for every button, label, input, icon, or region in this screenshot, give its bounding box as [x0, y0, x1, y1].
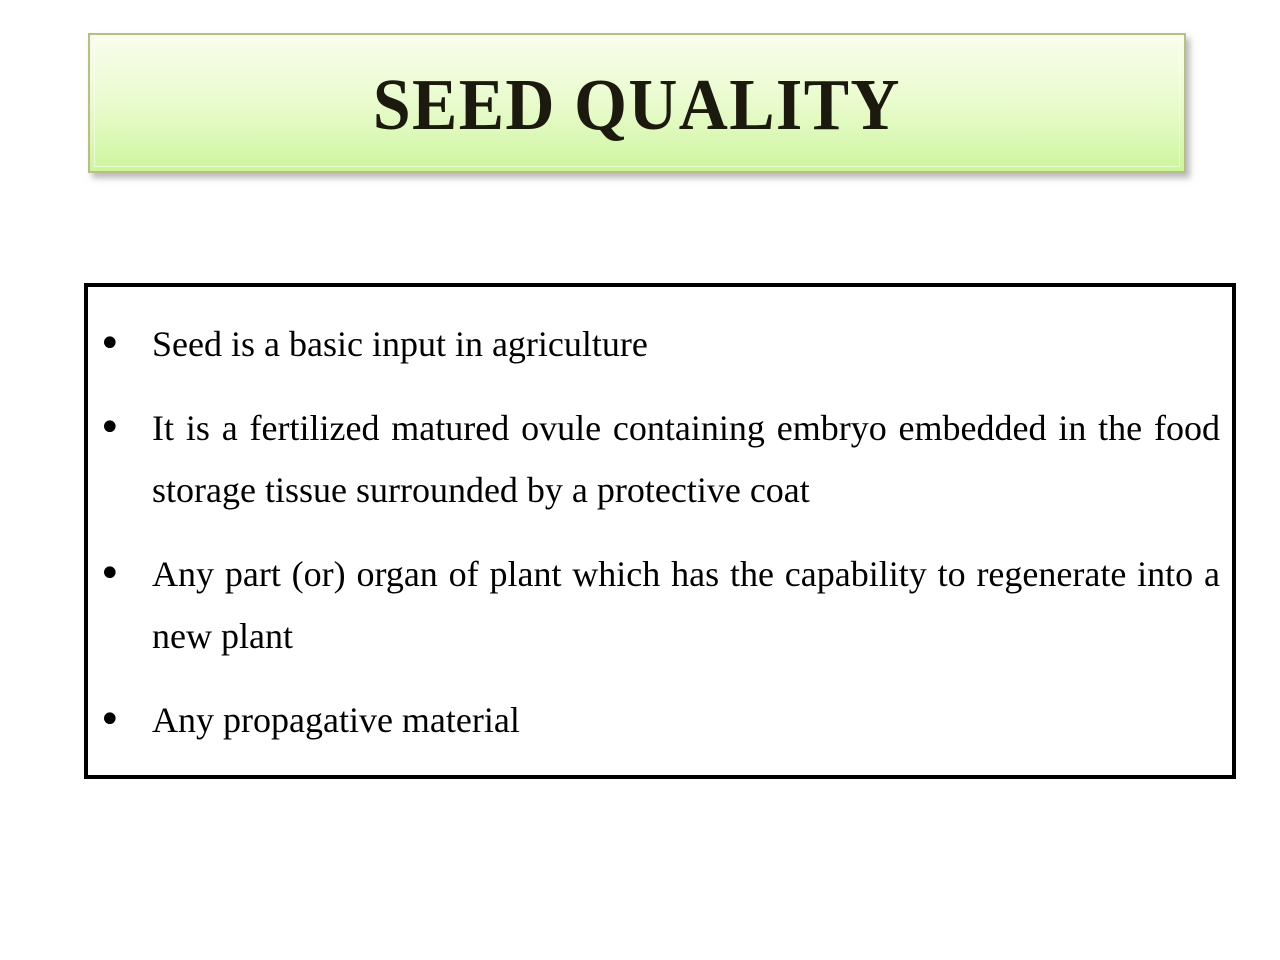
- content-box: • Seed is a basic input in agriculture •…: [84, 283, 1236, 779]
- title-banner: SEED QUALITY: [88, 33, 1186, 173]
- list-item: • It is a fertilized matured ovule conta…: [94, 397, 1222, 521]
- list-item-text: Any part (or) organ of plant which has t…: [152, 543, 1222, 667]
- list-item: • Any propagative material: [94, 689, 1222, 751]
- bullet-point-icon: •: [94, 543, 152, 605]
- list-item: • Any part (or) organ of plant which has…: [94, 543, 1222, 667]
- title-banner-inner-frame: SEED QUALITY: [94, 39, 1180, 167]
- slide-canvas: SEED QUALITY • Seed is a basic input in …: [0, 0, 1280, 960]
- bullet-point-icon: •: [94, 689, 152, 751]
- list-item-text: Any propagative material: [152, 689, 1222, 751]
- list-item-text: It is a fertilized matured ovule contain…: [152, 397, 1222, 521]
- bullet-point-icon: •: [94, 313, 152, 375]
- list-item-text: Seed is a basic input in agriculture: [152, 313, 1222, 375]
- bullet-point-icon: •: [94, 397, 152, 459]
- page-title: SEED QUALITY: [373, 68, 901, 141]
- bullet-list: • Seed is a basic input in agriculture •…: [88, 287, 1232, 751]
- list-item: • Seed is a basic input in agriculture: [94, 313, 1222, 375]
